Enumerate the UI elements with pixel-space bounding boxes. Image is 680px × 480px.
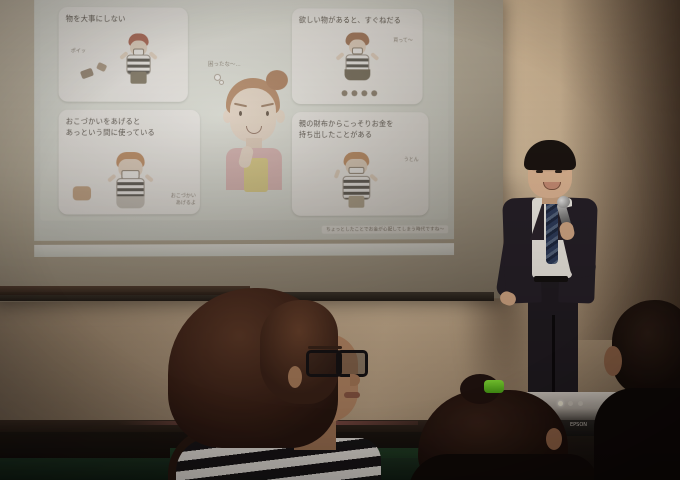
slide-panel-text: 親の財布からこっそりお金を 持ち出したことがある: [299, 118, 424, 140]
slide-footer-caption: ちょっとしたことでお金が心配してしまう時代ですね〜: [322, 225, 448, 233]
woman-eyebrow: [308, 346, 342, 349]
thrown-object-icon: [96, 62, 107, 72]
audience-child: [418, 378, 588, 480]
slide-panel-bottom-right: 親の財布からこっそりお金を 持ち出したことがある うとん: [292, 112, 429, 216]
dots-decor-icon: [342, 90, 376, 96]
right-person-body: [594, 388, 680, 480]
worried-mother-figure: 困ったな〜...: [218, 64, 290, 192]
slide-panel-bottom-left: おこづかいをあげると あっという間に使っている おこづかい あげるよ: [59, 110, 200, 215]
presenter-figure: [498, 140, 616, 410]
woman-nose: [350, 374, 360, 386]
right-person-ear: [604, 346, 622, 376]
slide-panel-note: 買って〜: [393, 37, 412, 44]
presenter-eye-left: [536, 170, 543, 173]
thrown-object-icon: [80, 68, 94, 80]
slide-content-area: 物を大事にしない ポイッ おこづかいをあげると あっという間に使っている おこづ…: [40, 0, 448, 221]
speech-bubble-text: 困ったな〜...: [208, 60, 241, 68]
presenter-belt: [534, 276, 568, 282]
right-person-head: [612, 300, 680, 396]
slide-panel-text: おこづかいをあげると あっという間に使っている: [66, 116, 195, 139]
slide-panel-top-left: 物を大事にしない ポイッ: [59, 7, 188, 102]
projection-screen: お金のつかいかた こんなことありませんか 物を大事にしない ポイッ: [0, 0, 503, 302]
cartoon-child-icon: [344, 32, 372, 94]
woman-ear: [288, 366, 302, 388]
slide-panel-note: おこづかい あげるよ: [171, 192, 196, 206]
presenter-hair: [524, 140, 576, 170]
slide-panel-text: 物を大事にしない: [66, 13, 183, 25]
glasses-icon: [306, 350, 368, 372]
child-shoulder: [408, 454, 598, 480]
slide-panel-note: うとん: [404, 156, 419, 163]
slide-panel-note: ポイッ: [71, 47, 86, 54]
slide-panel-top-right: 欲しい物があると、すぐねだる 買って〜: [292, 8, 423, 104]
money-bag-icon: [73, 186, 91, 200]
cartoon-child-icon: [115, 152, 145, 210]
woman-lips: [344, 392, 360, 398]
green-hairtie-icon: [484, 380, 504, 393]
audience-person-right: [600, 300, 680, 480]
cartoon-child-icon: [342, 152, 372, 210]
projected-slide: お金のつかいかた こんなことありませんか 物を大事にしない ポイッ: [34, 0, 454, 241]
cartoon-child-icon: [125, 33, 151, 89]
child-ear: [546, 428, 562, 450]
presentation-photo-scene: お金のつかいかた こんなことありませんか 物を大事にしない ポイッ: [0, 0, 680, 480]
audience-woman: [168, 288, 378, 480]
presenter-tie: [546, 202, 558, 264]
slide-panel-text: 欲しい物があると、すぐねだる: [299, 14, 418, 26]
presenter-eye-right: [555, 170, 562, 173]
slide-bottom-bar: [34, 243, 454, 257]
